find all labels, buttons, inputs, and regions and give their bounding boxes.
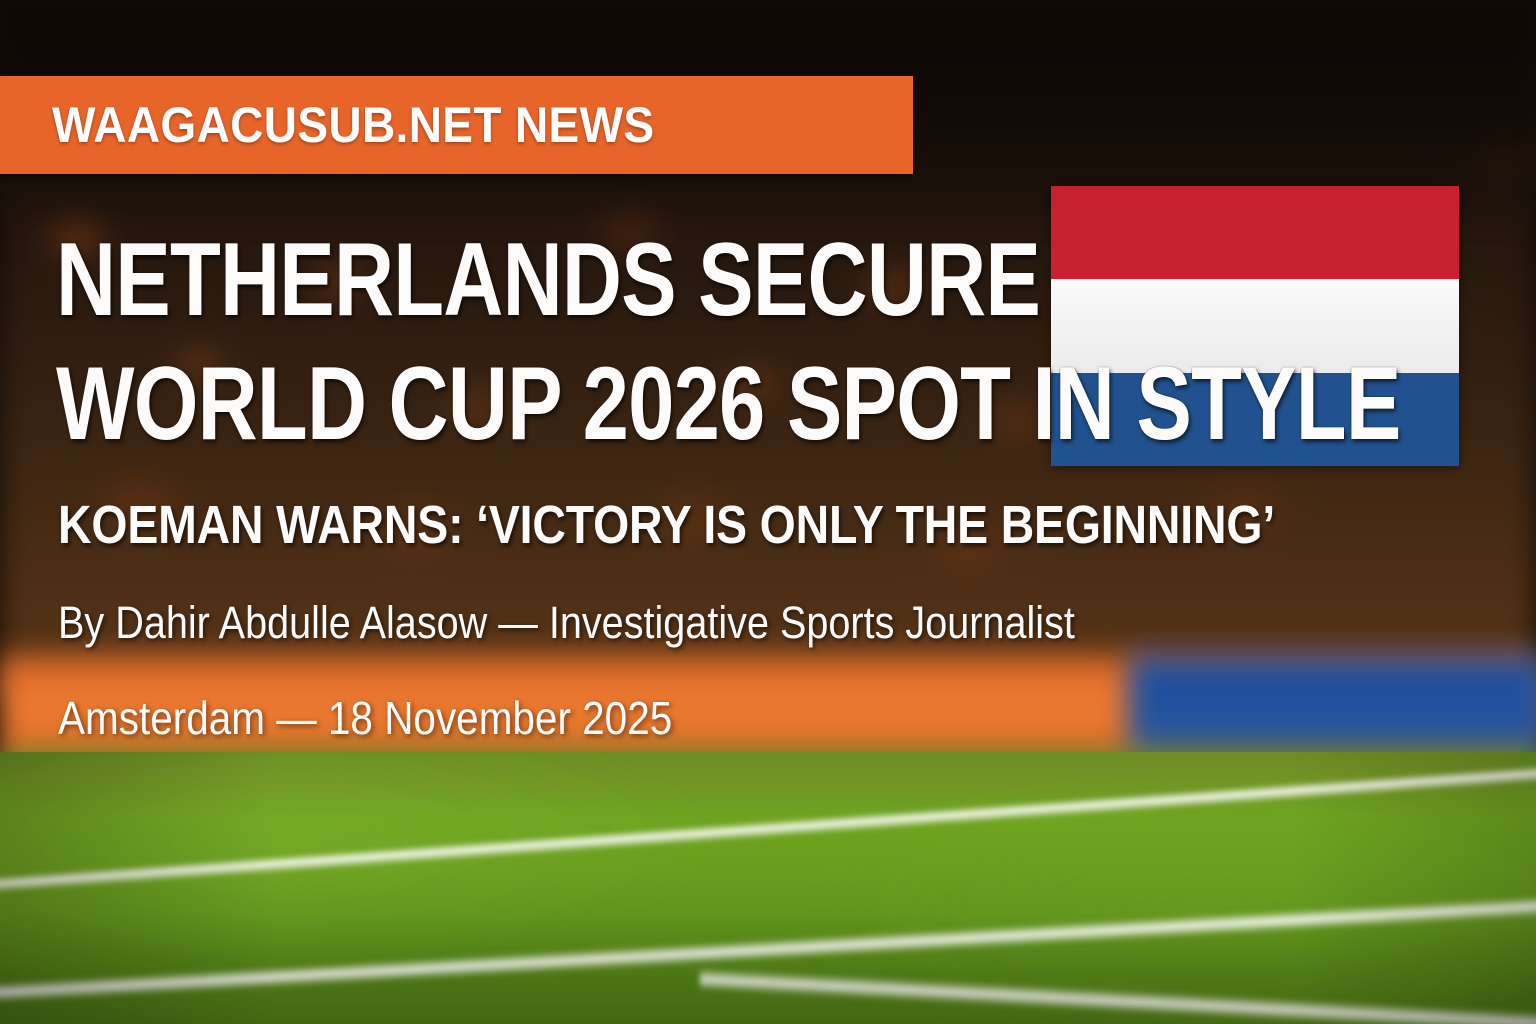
brand-banner: WAAGACUSUB.NET NEWS <box>0 76 913 174</box>
dateline: Amsterdam — 18 November 2025 <box>58 695 1378 741</box>
news-graphic: WAAGACUSUB.NET NEWS NETHERLANDS SECURE W… <box>0 0 1536 1024</box>
text-overlay: WAAGACUSUB.NET NEWS NETHERLANDS SECURE W… <box>0 0 1536 1024</box>
headline-line-1: NETHERLANDS SECURE <box>56 228 1232 332</box>
subheadline: KOEMAN WARNS: ‘VICTORY IS ONLY THE BEGIN… <box>58 498 1348 552</box>
brand-banner-label: WAAGACUSUB.NET NEWS <box>52 96 654 154</box>
headline-line-2: WORLD CUP 2026 SPOT IN STYLE <box>56 352 1232 456</box>
byline: By Dahir Abdulle Alasow — Investigative … <box>58 600 1378 645</box>
